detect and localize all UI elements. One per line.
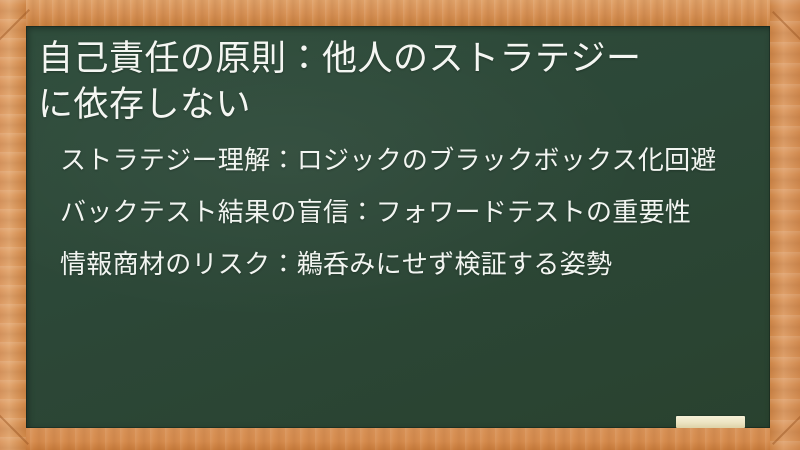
blackboard-slide: 自己責任の原則：他人のストラテジー に依存しない ストラテジー理解：ロジックのブ… <box>0 0 800 450</box>
bullet-item-2: バックテスト結果の盲信：フォワードテストの重要性 <box>60 195 748 230</box>
frame-plank-left <box>0 0 26 450</box>
bullet-item-1: ストラテジー理解：ロジックのブラックボックス化回避 <box>60 143 748 178</box>
frame-plank-bottom <box>0 428 800 450</box>
frame-plank-top <box>0 0 800 26</box>
bullet-list: ストラテジー理解：ロジックのブラックボックス化回避 バックテスト結果の盲信：フォ… <box>38 143 748 281</box>
blackboard-surface: 自己責任の原則：他人のストラテジー に依存しない ストラテジー理解：ロジックのブ… <box>26 26 770 428</box>
board-content: 自己責任の原則：他人のストラテジー に依存しない ストラテジー理解：ロジックのブ… <box>26 26 770 428</box>
slide-title: 自己責任の原則：他人のストラテジー に依存しない <box>38 32 748 127</box>
bullet-item-3: 情報商材のリスク：鵜呑みにせず検証する姿勢 <box>60 247 748 282</box>
frame-plank-right <box>770 0 800 450</box>
chalk-stick-icon <box>676 416 745 428</box>
